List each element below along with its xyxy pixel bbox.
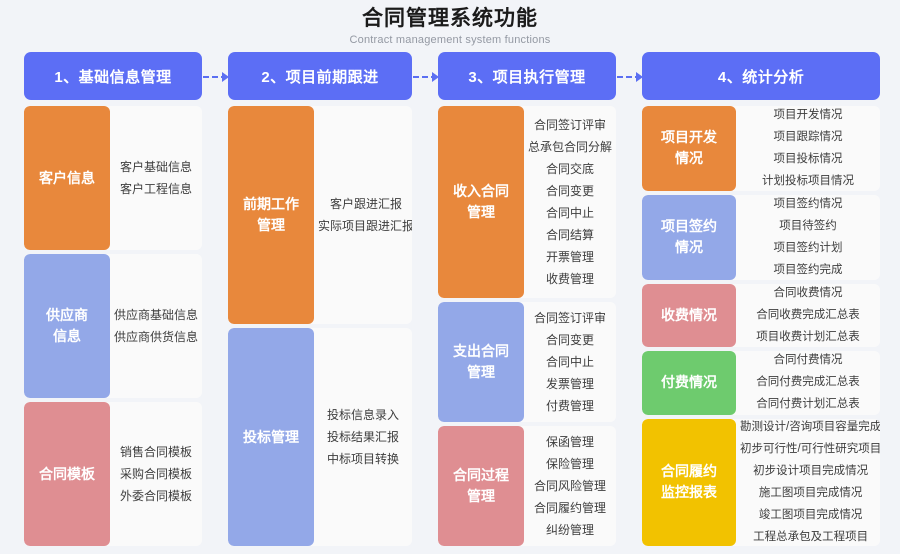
group-item-list: 合同签订评审总承包合同分解合同交底合同变更合同中止合同结算开票管理收费管理 (524, 106, 616, 298)
group-item-list: 合同签订评审合同变更合同中止发票管理付费管理 (524, 302, 616, 422)
list-item[interactable]: 保函管理 (546, 433, 594, 452)
list-item[interactable]: 实际项目跟进汇报 (318, 217, 412, 236)
flow-arrow-2 (412, 52, 438, 546)
group-row: 前期工作 管理客户跟进汇报实际项目跟进汇报 (228, 106, 412, 324)
list-item[interactable]: 合同收费完成汇总表 (756, 306, 860, 325)
group-item-list: 投标信息录入投标结果汇报中标项目转换 (314, 328, 412, 546)
group-row: 供应商 信息供应商基础信息供应商供货信息 (24, 254, 202, 398)
group-row: 合同履约 监控报表勘测设计/咨询项目容量完成初步可行性/可行性研究项目初步设计项… (642, 419, 880, 546)
list-item[interactable]: 工程总承包及工程项目 (753, 528, 868, 546)
group-row: 收入合同 管理合同签订评审总承包合同分解合同交底合同变更合同中止合同结算开票管理… (438, 106, 616, 298)
group-item-list: 客户基础信息客户工程信息 (110, 106, 202, 250)
group-label[interactable]: 供应商 信息 (24, 254, 110, 398)
list-item[interactable]: 计划投标项目情况 (762, 172, 854, 191)
list-item[interactable]: 合同签订评审 (534, 309, 606, 328)
list-item[interactable]: 项目跟踪情况 (774, 128, 843, 147)
list-item[interactable]: 合同交底 (546, 160, 594, 179)
list-item[interactable]: 项目签约完成 (774, 261, 843, 280)
group-item-list: 客户跟进汇报实际项目跟进汇报 (314, 106, 412, 324)
title-chinese: 合同管理系统功能 (0, 6, 900, 32)
column-header-4[interactable]: 4、统计分析 (642, 52, 880, 100)
group-row: 支出合同 管理合同签订评审合同变更合同中止发票管理付费管理 (438, 302, 616, 422)
list-item[interactable]: 合同中止 (546, 204, 594, 223)
column-body-2: 前期工作 管理客户跟进汇报实际项目跟进汇报投标管理投标信息录入投标结果汇报中标项… (228, 106, 412, 546)
column-header-3[interactable]: 3、项目执行管理 (438, 52, 616, 100)
flow-column-1: 1、基础信息管理客户信息客户基础信息客户工程信息供应商 信息供应商基础信息供应商… (24, 52, 202, 546)
list-item[interactable]: 客户跟进汇报 (330, 195, 402, 214)
list-item[interactable]: 项目签约计划 (774, 239, 843, 258)
column-header-1[interactable]: 1、基础信息管理 (24, 52, 202, 100)
flow-column-4: 4、统计分析项目开发 情况项目开发情况项目跟踪情况项目投标情况计划投标项目情况项… (642, 52, 880, 546)
list-item[interactable]: 纠纷管理 (546, 521, 594, 540)
group-item-list: 合同收费情况合同收费完成汇总表项目收费计划汇总表 (736, 284, 880, 348)
flow-column-3: 3、项目执行管理收入合同 管理合同签订评审总承包合同分解合同交底合同变更合同中止… (438, 52, 616, 546)
flow-arrow-3 (616, 52, 642, 546)
group-item-list: 合同付费情况合同付费完成汇总表合同付费计划汇总表 (736, 351, 880, 415)
group-row: 项目开发 情况项目开发情况项目跟踪情况项目投标情况计划投标项目情况 (642, 106, 880, 191)
group-item-list: 项目开发情况项目跟踪情况项目投标情况计划投标项目情况 (736, 106, 880, 191)
group-row: 付费情况合同付费情况合同付费完成汇总表合同付费计划汇总表 (642, 351, 880, 415)
list-item[interactable]: 外委合同模板 (120, 487, 192, 506)
list-item[interactable]: 竣工图项目完成情况 (759, 506, 863, 525)
list-item[interactable]: 合同变更 (546, 331, 594, 350)
list-item[interactable]: 客户工程信息 (120, 180, 192, 199)
list-item[interactable]: 合同履约管理 (534, 499, 606, 518)
list-item[interactable]: 合同签订评审 (534, 116, 606, 135)
list-item[interactable]: 合同付费情况 (774, 351, 843, 370)
flow-board: 1、基础信息管理客户信息客户基础信息客户工程信息供应商 信息供应商基础信息供应商… (0, 52, 900, 552)
list-item[interactable]: 合同结算 (546, 226, 594, 245)
list-item[interactable]: 合同中止 (546, 353, 594, 372)
group-label[interactable]: 合同模板 (24, 402, 110, 546)
column-body-3: 收入合同 管理合同签订评审总承包合同分解合同交底合同变更合同中止合同结算开票管理… (438, 106, 616, 546)
group-label[interactable]: 收入合同 管理 (438, 106, 524, 298)
list-item[interactable]: 初步可行性/可行性研究项目 (740, 440, 880, 459)
list-item[interactable]: 发票管理 (546, 375, 594, 394)
list-item[interactable]: 收费管理 (546, 270, 594, 289)
list-item[interactable]: 投标信息录入 (327, 406, 399, 425)
group-item-list: 项目签约情况项目待签约项目签约计划项目签约完成 (736, 195, 880, 280)
list-item[interactable]: 供应商基础信息 (114, 306, 198, 325)
list-item[interactable]: 付费管理 (546, 397, 594, 416)
group-label[interactable]: 前期工作 管理 (228, 106, 314, 324)
list-item[interactable]: 项目收费计划汇总表 (756, 328, 860, 347)
arrow-right-icon (203, 76, 227, 78)
group-row: 合同过程 管理保函管理保险管理合同风险管理合同履约管理纠纷管理 (438, 426, 616, 546)
arrow-right-icon (617, 76, 641, 78)
group-label[interactable]: 客户信息 (24, 106, 110, 250)
group-row: 项目签约 情况项目签约情况项目待签约项目签约计划项目签约完成 (642, 195, 880, 280)
group-row: 收费情况合同收费情况合同收费完成汇总表项目收费计划汇总表 (642, 284, 880, 348)
list-item[interactable]: 合同付费完成汇总表 (756, 373, 860, 392)
group-label[interactable]: 投标管理 (228, 328, 314, 546)
list-item[interactable]: 保险管理 (546, 455, 594, 474)
list-item[interactable]: 开票管理 (546, 248, 594, 267)
list-item[interactable]: 客户基础信息 (120, 158, 192, 177)
group-row: 客户信息客户基础信息客户工程信息 (24, 106, 202, 250)
list-item[interactable]: 中标项目转换 (327, 450, 399, 469)
list-item[interactable]: 合同付费计划汇总表 (756, 395, 860, 414)
arrow-right-icon (413, 76, 437, 78)
flow-column-2: 2、项目前期跟进前期工作 管理客户跟进汇报实际项目跟进汇报投标管理投标信息录入投… (228, 52, 412, 546)
column-body-1: 客户信息客户基础信息客户工程信息供应商 信息供应商基础信息供应商供货信息合同模板… (24, 106, 202, 546)
list-item[interactable]: 项目投标情况 (774, 150, 843, 169)
list-item[interactable]: 投标结果汇报 (327, 428, 399, 447)
list-item[interactable]: 合同变更 (546, 182, 594, 201)
title-english: Contract management system functions (0, 32, 900, 48)
group-row: 投标管理投标信息录入投标结果汇报中标项目转换 (228, 328, 412, 546)
list-item[interactable]: 采购合同模板 (120, 465, 192, 484)
group-item-list: 供应商基础信息供应商供货信息 (110, 254, 202, 398)
list-item[interactable]: 项目开发情况 (774, 106, 843, 125)
flow-arrow-1 (202, 52, 228, 546)
group-label[interactable]: 合同过程 管理 (438, 426, 524, 546)
group-label[interactable]: 付费情况 (642, 351, 736, 415)
page-title: 合同管理系统功能 Contract management system func… (0, 0, 900, 48)
group-label[interactable]: 合同履约 监控报表 (642, 419, 736, 546)
group-label[interactable]: 项目开发 情况 (642, 106, 736, 191)
list-item[interactable]: 勘测设计/咨询项目容量完成 (740, 419, 880, 437)
column-body-4: 项目开发 情况项目开发情况项目跟踪情况项目投标情况计划投标项目情况项目签约 情况… (642, 106, 880, 546)
list-item[interactable]: 供应商供货信息 (114, 328, 198, 347)
list-item[interactable]: 合同收费情况 (774, 284, 843, 303)
list-item[interactable]: 项目待签约 (779, 217, 837, 236)
list-item[interactable]: 销售合同模板 (120, 443, 192, 462)
group-item-list: 保函管理保险管理合同风险管理合同履约管理纠纷管理 (524, 426, 616, 546)
group-row: 合同模板销售合同模板采购合同模板外委合同模板 (24, 402, 202, 546)
group-item-list: 勘测设计/咨询项目容量完成初步可行性/可行性研究项目初步设计项目完成情况施工图项… (736, 419, 880, 546)
group-item-list: 销售合同模板采购合同模板外委合同模板 (110, 402, 202, 546)
list-item[interactable]: 初步设计项目完成情况 (753, 462, 868, 481)
list-item[interactable]: 项目签约情况 (774, 195, 843, 214)
list-item[interactable]: 施工图项目完成情况 (759, 484, 863, 503)
list-item[interactable]: 合同风险管理 (534, 477, 606, 496)
group-label[interactable]: 收费情况 (642, 284, 736, 348)
group-label[interactable]: 项目签约 情况 (642, 195, 736, 280)
list-item[interactable]: 总承包合同分解 (528, 138, 612, 157)
group-label[interactable]: 支出合同 管理 (438, 302, 524, 422)
column-header-2[interactable]: 2、项目前期跟进 (228, 52, 412, 100)
